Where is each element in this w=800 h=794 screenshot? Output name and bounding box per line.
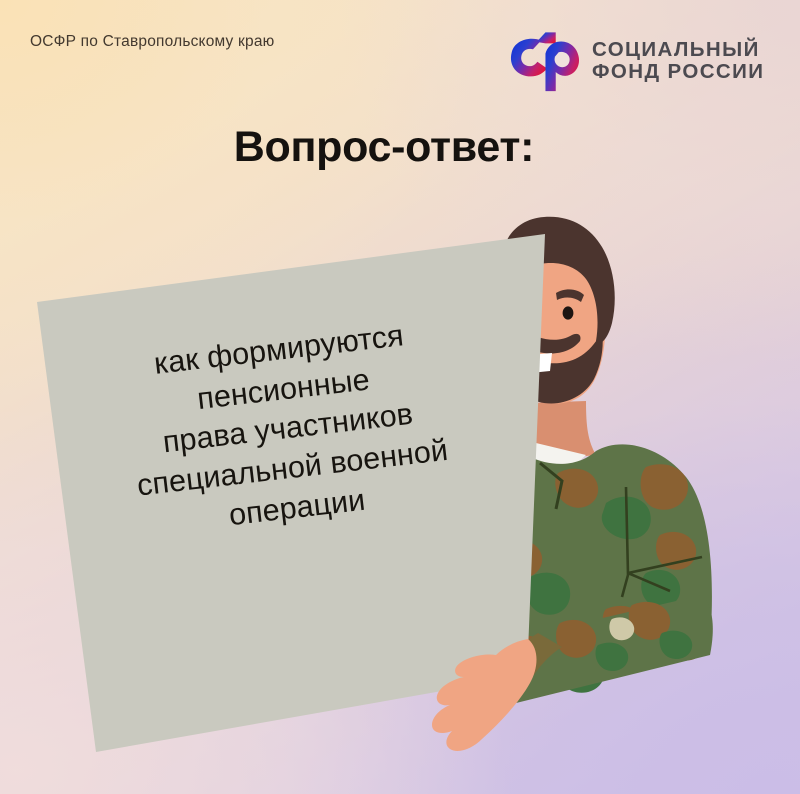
sfr-monogram-logo-icon (507, 28, 581, 94)
sfr-logo-line-1: СОЦИАЛЬНЫЙ (592, 39, 764, 61)
region-label: ОСФР по Ставропольскому краю (30, 33, 274, 51)
poster-canvas: ОСФР по Ставропольскому краю СОЦИАЛЬНЫЙ (0, 0, 800, 794)
soldier-arm-and-hand (410, 205, 800, 765)
sfr-logo-line-2: ФОНД РОССИИ (592, 61, 764, 83)
sfr-logo: СОЦИАЛЬНЫЙ ФОНД РОССИИ (507, 28, 764, 94)
hand-shape (432, 639, 537, 751)
page-title: Вопрос-ответ: (0, 123, 784, 172)
hand-palm-and-fingers (432, 639, 537, 751)
sfr-logo-wordmark: СОЦИАЛЬНЫЙ ФОНД РОССИИ (592, 39, 764, 82)
